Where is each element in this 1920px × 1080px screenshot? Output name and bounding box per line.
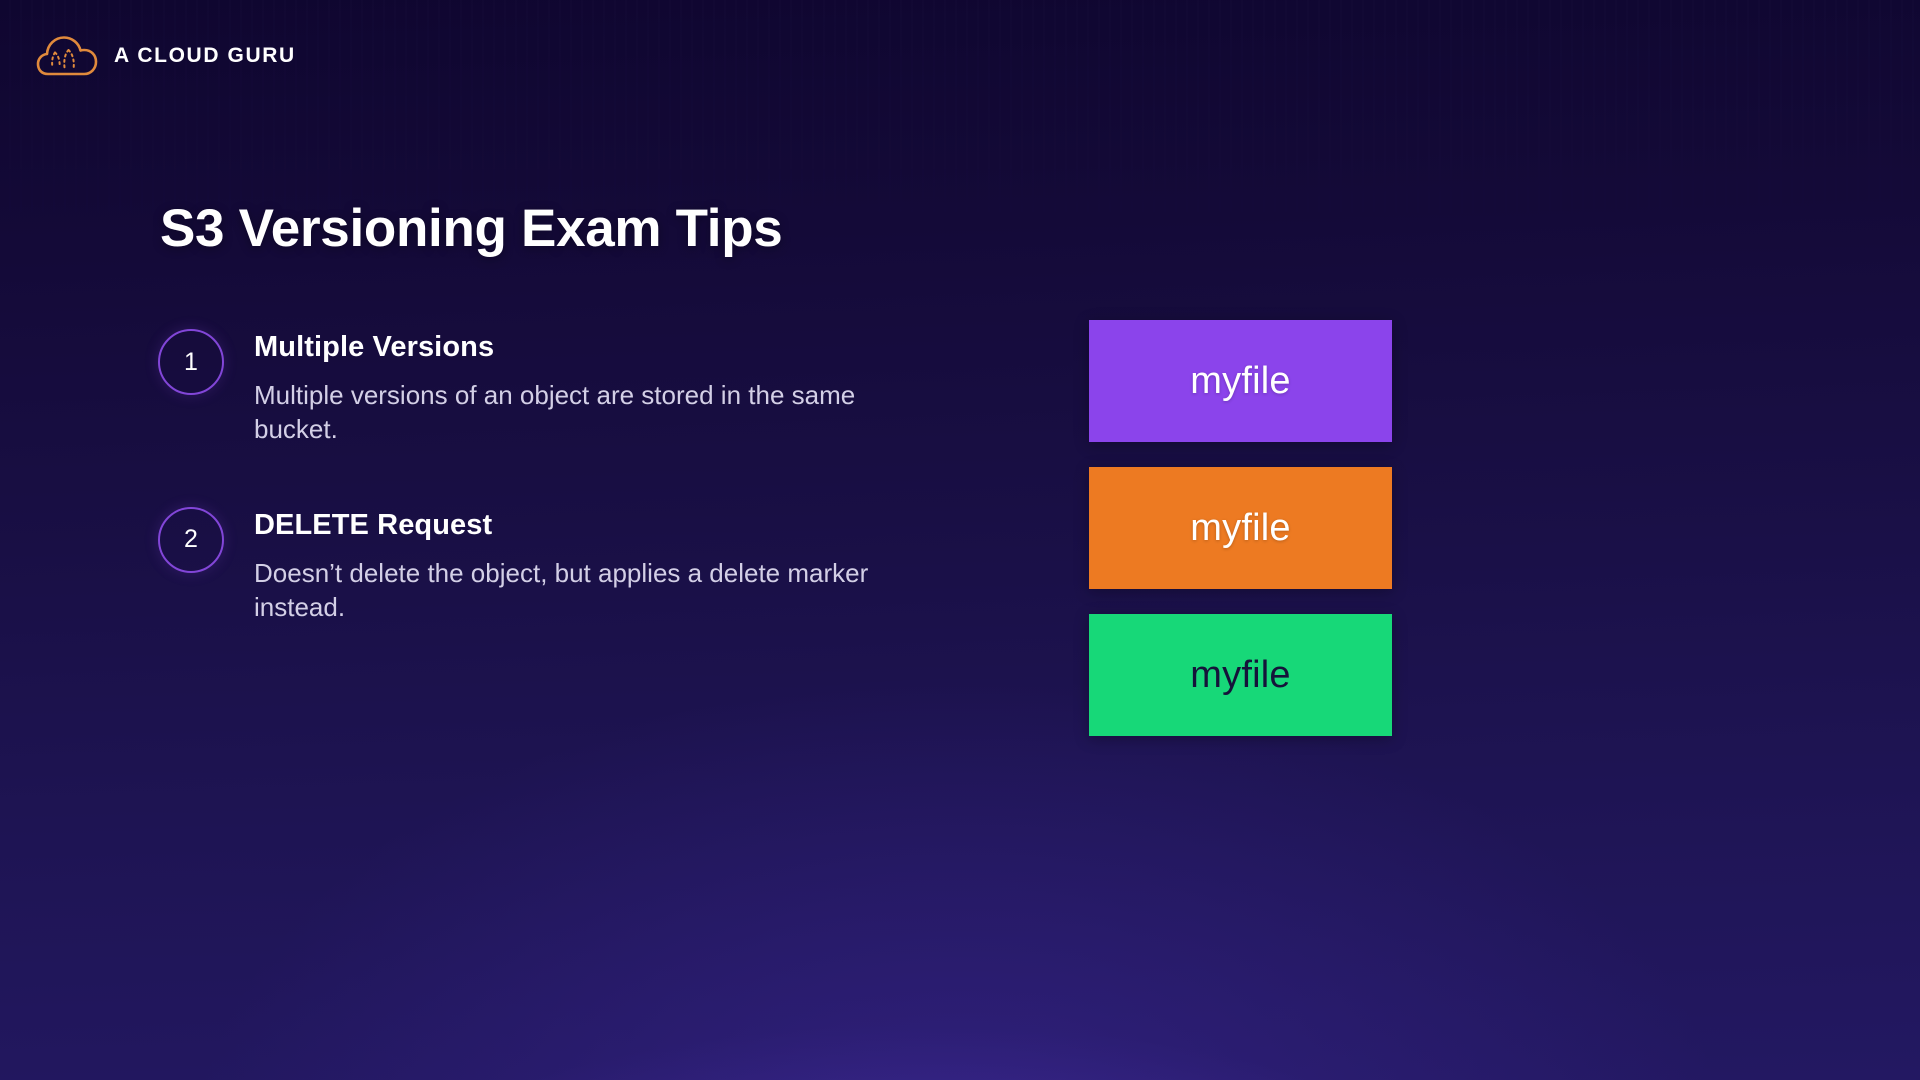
tip-number-badge: 2	[158, 507, 224, 573]
tip-description: Multiple versions of an object are store…	[254, 378, 934, 447]
tip-heading: DELETE Request	[254, 509, 934, 542]
tip-item: 1 Multiple Versions Multiple versions of…	[158, 325, 958, 447]
brand-name: A CLOUD GURU	[114, 44, 296, 68]
tip-item: 2 DELETE Request Doesn’t delete the obje…	[158, 503, 958, 625]
slide-canvas: A CLOUD GURU S3 Versioning Exam Tips 1 M…	[0, 0, 1920, 1080]
cloud-outline-icon	[36, 34, 98, 78]
tip-number-badge: 1	[158, 329, 224, 395]
page-title: S3 Versioning Exam Tips	[160, 200, 782, 258]
file-version-stack: myfile myfile myfile	[1089, 320, 1392, 736]
tip-body: Multiple Versions Multiple versions of a…	[254, 325, 934, 447]
tip-heading: Multiple Versions	[254, 331, 934, 364]
brand-lockup: A CLOUD GURU	[36, 34, 296, 78]
file-version-block: myfile	[1089, 614, 1392, 736]
background-glow	[0, 720, 1920, 1080]
tip-description: Doesn’t delete the object, but applies a…	[254, 556, 934, 625]
file-version-block: myfile	[1089, 467, 1392, 589]
file-version-block: myfile	[1089, 320, 1392, 442]
tip-body: DELETE Request Doesn’t delete the object…	[254, 503, 934, 625]
tips-list: 1 Multiple Versions Multiple versions of…	[158, 325, 958, 624]
